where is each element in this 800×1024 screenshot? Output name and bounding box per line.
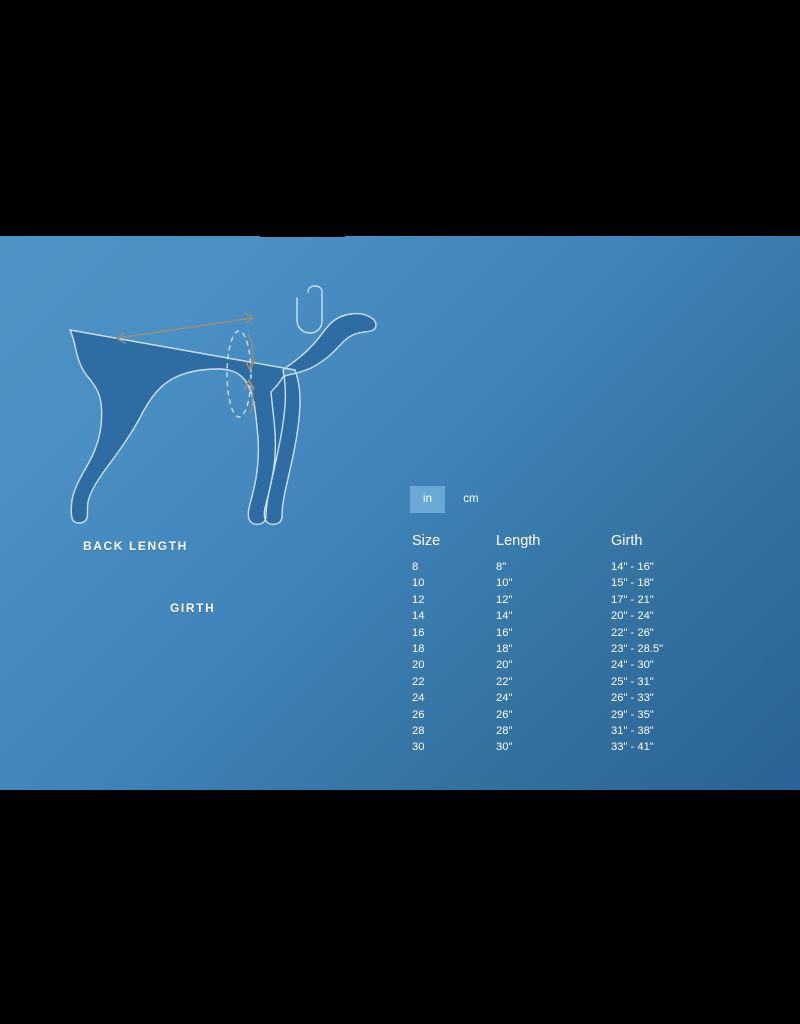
cell-length: 16"	[496, 627, 512, 639]
size-chart-table: Size Length Girth 88"14" - 16"1010"15" -…	[412, 533, 742, 758]
cell-size: 18	[412, 643, 424, 655]
top-bar-notch	[260, 234, 345, 237]
cell-girth: 20" - 24"	[611, 610, 654, 622]
table-row: 2222"25" - 31"	[412, 676, 742, 692]
table-row: 1212"17" - 21"	[412, 594, 742, 610]
table-header-row: Size Length Girth	[412, 533, 742, 561]
cell-girth: 17" - 21"	[611, 594, 654, 606]
unit-toggle-cm[interactable]: cm	[453, 486, 488, 513]
cell-size: 20	[412, 659, 424, 671]
table-row: 1616"22" - 26"	[412, 627, 742, 643]
cell-size: 10	[412, 577, 424, 589]
cell-girth: 31" - 38"	[611, 725, 654, 737]
back-length-label: BACK LENGTH	[83, 539, 188, 553]
size-guide-panel: BACK LENGTH GIRTH in cm Size Length Girt…	[0, 236, 800, 790]
cell-girth: 29" - 35"	[611, 709, 654, 721]
cell-size: 14	[412, 610, 424, 622]
unit-toggle-group[interactable]: in cm	[410, 486, 488, 514]
table-row: 2020"24" - 30"	[412, 659, 742, 675]
cell-length: 22"	[496, 676, 512, 688]
column-header-size: Size	[412, 533, 440, 549]
dog-silhouette	[67, 286, 376, 524]
cell-girth: 23" - 28.5"	[611, 643, 663, 655]
cell-size: 30	[412, 741, 424, 753]
cell-length: 20"	[496, 659, 512, 671]
cell-girth: 14" - 16"	[611, 561, 654, 573]
dog-measurement-diagram	[40, 246, 390, 546]
screenshot-root: BACK LENGTH GIRTH in cm Size Length Girt…	[0, 0, 800, 1024]
table-row: 2424"26" - 33"	[412, 692, 742, 708]
cell-size: 16	[412, 627, 424, 639]
cell-size: 26	[412, 709, 424, 721]
girth-label: GIRTH	[170, 601, 215, 615]
table-row: 3030"33" - 41"	[412, 741, 742, 757]
cell-length: 8"	[496, 561, 506, 573]
cell-girth: 22" - 26"	[611, 627, 654, 639]
cell-length: 10"	[496, 577, 512, 589]
cell-girth: 25" - 31"	[611, 676, 654, 688]
cell-length: 24"	[496, 692, 512, 704]
cell-size: 24	[412, 692, 424, 704]
cell-girth: 15" - 18"	[611, 577, 654, 589]
cell-size: 28	[412, 725, 424, 737]
table-row: 1010"15" - 18"	[412, 577, 742, 593]
cell-length: 12"	[496, 594, 512, 606]
cell-girth: 33" - 41"	[611, 741, 654, 753]
cell-length: 18"	[496, 643, 512, 655]
cell-size: 22	[412, 676, 424, 688]
cell-girth: 24" - 30"	[611, 659, 654, 671]
column-header-girth: Girth	[611, 533, 642, 549]
cell-size: 12	[412, 594, 424, 606]
cell-girth: 26" - 33"	[611, 692, 654, 704]
table-row: 2828"31" - 38"	[412, 725, 742, 741]
cell-length: 14"	[496, 610, 512, 622]
cell-length: 28"	[496, 725, 512, 737]
table-row: 1818"23" - 28.5"	[412, 643, 742, 659]
table-body: 88"14" - 16"1010"15" - 18"1212"17" - 21"…	[412, 561, 742, 758]
cell-size: 8	[412, 561, 418, 573]
table-row: 2626"29" - 35"	[412, 709, 742, 725]
cell-length: 26"	[496, 709, 512, 721]
table-row: 1414"20" - 24"	[412, 610, 742, 626]
cell-length: 30"	[496, 741, 512, 753]
column-header-length: Length	[496, 533, 540, 549]
unit-toggle-in[interactable]: in	[410, 486, 445, 513]
table-row: 88"14" - 16"	[412, 561, 742, 577]
